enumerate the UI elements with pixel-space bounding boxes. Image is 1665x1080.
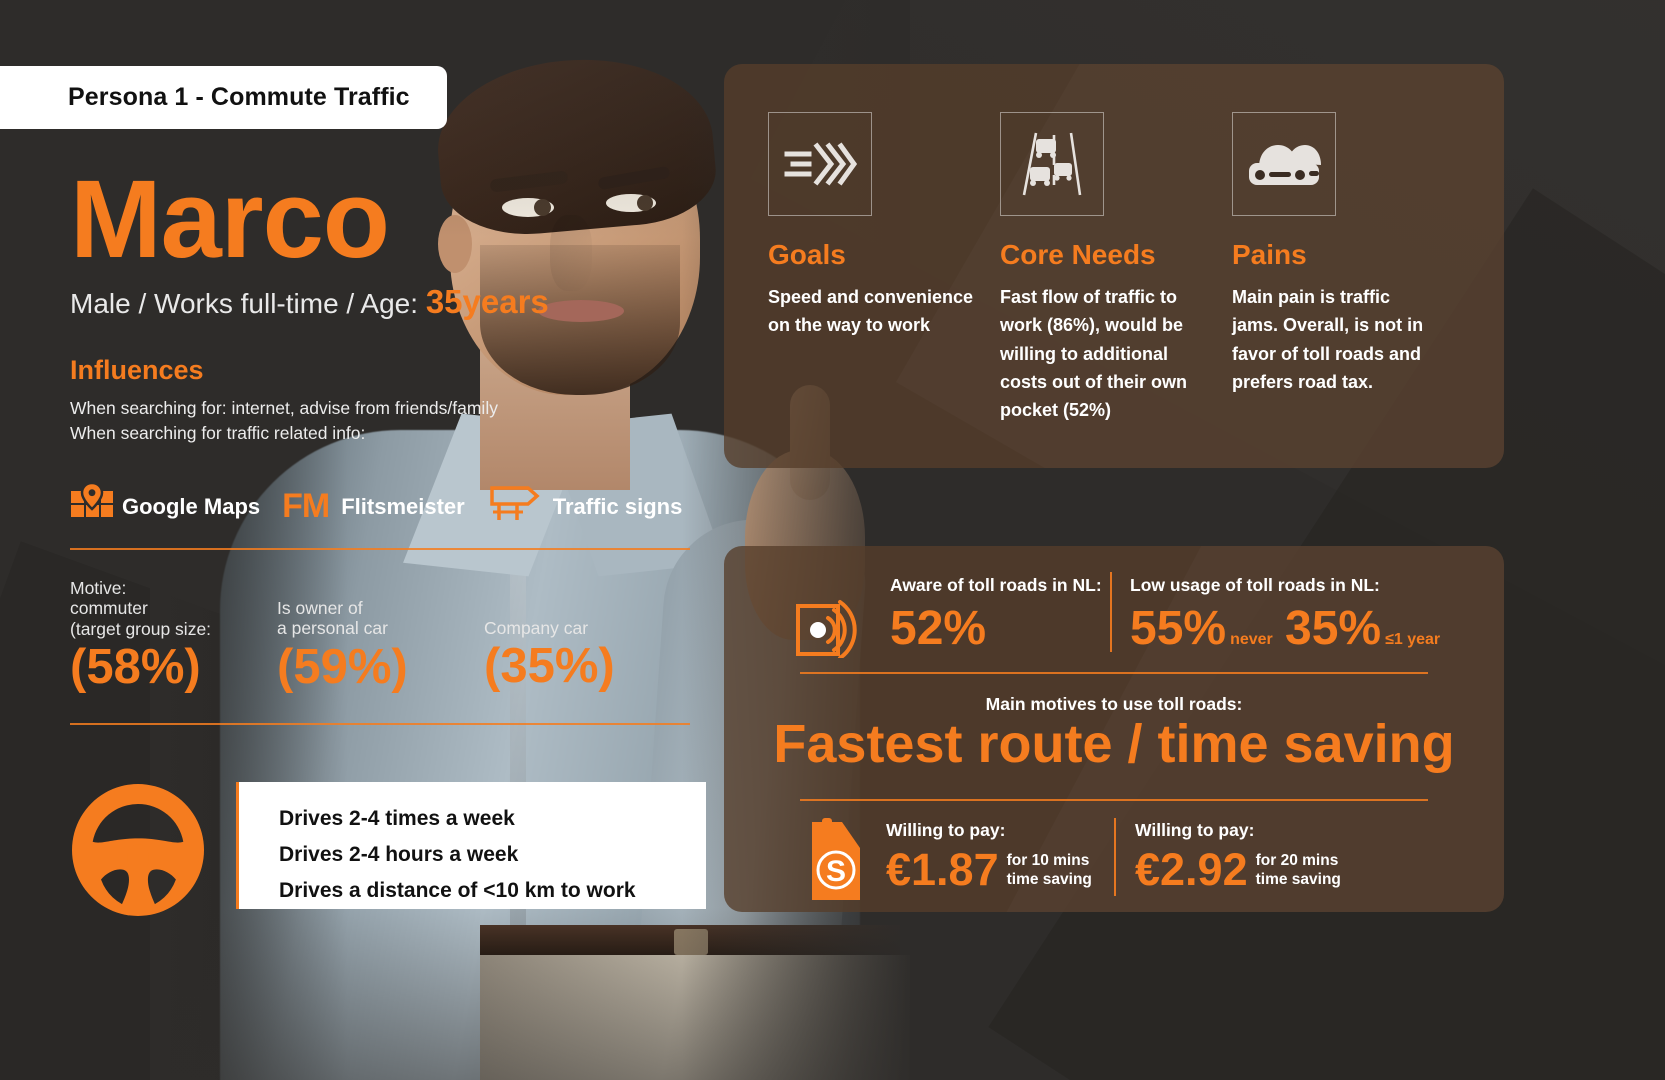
low-usage-label: Low usage of toll roads in NL:	[1130, 575, 1380, 596]
divider-top	[70, 548, 690, 550]
car-front-icon	[1232, 112, 1336, 216]
persona-tag-label: Persona 1 - Commute Traffic	[68, 83, 410, 112]
app-label: Google Maps	[122, 494, 260, 520]
column-title: Pains	[1232, 239, 1464, 271]
motives-value: Fastest route / time saving	[724, 715, 1504, 774]
stat-value: (59%)	[277, 643, 477, 692]
low-usage-percent: 55%	[1130, 605, 1226, 653]
low-usage-value-1: 55% never	[1130, 605, 1273, 653]
pay-divider-vertical	[1114, 818, 1116, 896]
toll-signal-icon	[794, 586, 862, 663]
influences-line-2: When searching for traffic related info:	[70, 423, 365, 444]
app-flitsmeister: FM Flitsmeister	[282, 487, 465, 526]
driving-habit-line: Drives 2-4 times a week	[279, 801, 706, 837]
low-usage-note: never	[1230, 631, 1273, 649]
low-usage-note: ≤1 year	[1385, 631, 1440, 649]
money-tag-icon: S	[800, 818, 872, 909]
pay-note-line-1: for 20 mins	[1256, 852, 1341, 871]
column-title: Goals	[768, 239, 1000, 271]
column-body: Fast flow of traffic to work (86%), woul…	[1000, 283, 1208, 424]
stat-personal-car: Is owner of a personal car (59%)	[277, 598, 477, 692]
stat-value: (35%)	[484, 642, 684, 691]
persona-tag: Persona 1 - Commute Traffic	[0, 66, 447, 129]
column-pains: Pains Main pain is traffic jams. Overall…	[1232, 112, 1464, 468]
traffic-sign-icon	[487, 484, 543, 529]
driving-habits-card: Drives 2-4 times a week Drives 2-4 hours…	[236, 782, 706, 909]
flitsmeister-icon: FM	[282, 487, 329, 526]
app-google-maps: Google Maps	[70, 483, 260, 530]
column-goals: Goals Speed and convenience on the way t…	[768, 112, 1000, 468]
pay-note-line-2: time saving	[1007, 871, 1092, 890]
persona-age: 35years	[426, 283, 549, 320]
influence-apps-list: Google Maps FM Flitsmeister Traffic sign…	[70, 483, 682, 530]
stat-label: Company car	[484, 618, 684, 638]
pay-label: Willing to pay:	[1135, 820, 1341, 841]
pay-amount: €2.92	[1135, 847, 1248, 892]
stat-divider-vertical	[1110, 572, 1112, 652]
willing-to-pay-1: Willing to pay: €1.87 for 10 mins time s…	[886, 820, 1092, 892]
column-body: Main pain is traffic jams. Overall, is n…	[1232, 283, 1440, 396]
low-usage-value-2: 35% ≤1 year	[1285, 605, 1440, 653]
driving-habit-line: Drives a distance of <10 km to work	[279, 873, 706, 909]
stat-label: Motive: commuter (target group size:	[70, 578, 260, 639]
app-label: Flitsmeister	[341, 494, 465, 520]
page-title: Marco	[70, 165, 389, 275]
panel-divider-1	[800, 672, 1428, 674]
column-title: Core Needs	[1000, 239, 1232, 271]
google-maps-icon	[70, 483, 114, 530]
traffic-lane-cars-icon	[1000, 112, 1104, 216]
influences-line-1: When searching for: internet, advise fro…	[70, 398, 498, 419]
steering-wheel-icon	[68, 780, 208, 920]
divider-bottom	[70, 723, 690, 725]
aware-label: Aware of toll roads in NL:	[890, 575, 1102, 596]
column-body: Speed and convenience on the way to work	[768, 283, 976, 340]
svg-text:S: S	[826, 855, 846, 888]
pay-note-line-1: for 10 mins	[1007, 852, 1092, 871]
goals-needs-pains-panel: Goals Speed and convenience on the way t…	[724, 64, 1504, 468]
aware-value: 52%	[890, 605, 986, 653]
app-traffic-signs: Traffic signs	[487, 484, 683, 529]
stat-motive: Motive: commuter (target group size: (58…	[70, 578, 260, 692]
driving-habit-line: Drives 2-4 hours a week	[279, 837, 706, 873]
persona-demographics: Male / Works full-time / Age: 35years	[70, 283, 549, 321]
stat-company-car: Company car (35%)	[484, 618, 684, 691]
app-label: Traffic signs	[553, 494, 683, 520]
speed-chevrons-icon	[768, 112, 872, 216]
column-core-needs: Core Needs Fast flow of traffic to work …	[1000, 112, 1232, 468]
motives-label: Main motives to use toll roads:	[724, 694, 1504, 715]
influences-heading: Influences	[70, 355, 204, 386]
persona-demographics-text: Male / Works full-time / Age:	[70, 288, 426, 319]
stat-value: (58%)	[70, 643, 260, 692]
stat-label: Is owner of a personal car	[277, 598, 477, 639]
willing-to-pay-2: Willing to pay: €2.92 for 20 mins time s…	[1135, 820, 1341, 892]
pay-label: Willing to pay:	[886, 820, 1092, 841]
low-usage-percent: 35%	[1285, 605, 1381, 653]
panel-divider-2	[800, 799, 1428, 801]
pay-note-line-2: time saving	[1256, 871, 1341, 890]
pay-amount: €1.87	[886, 847, 999, 892]
